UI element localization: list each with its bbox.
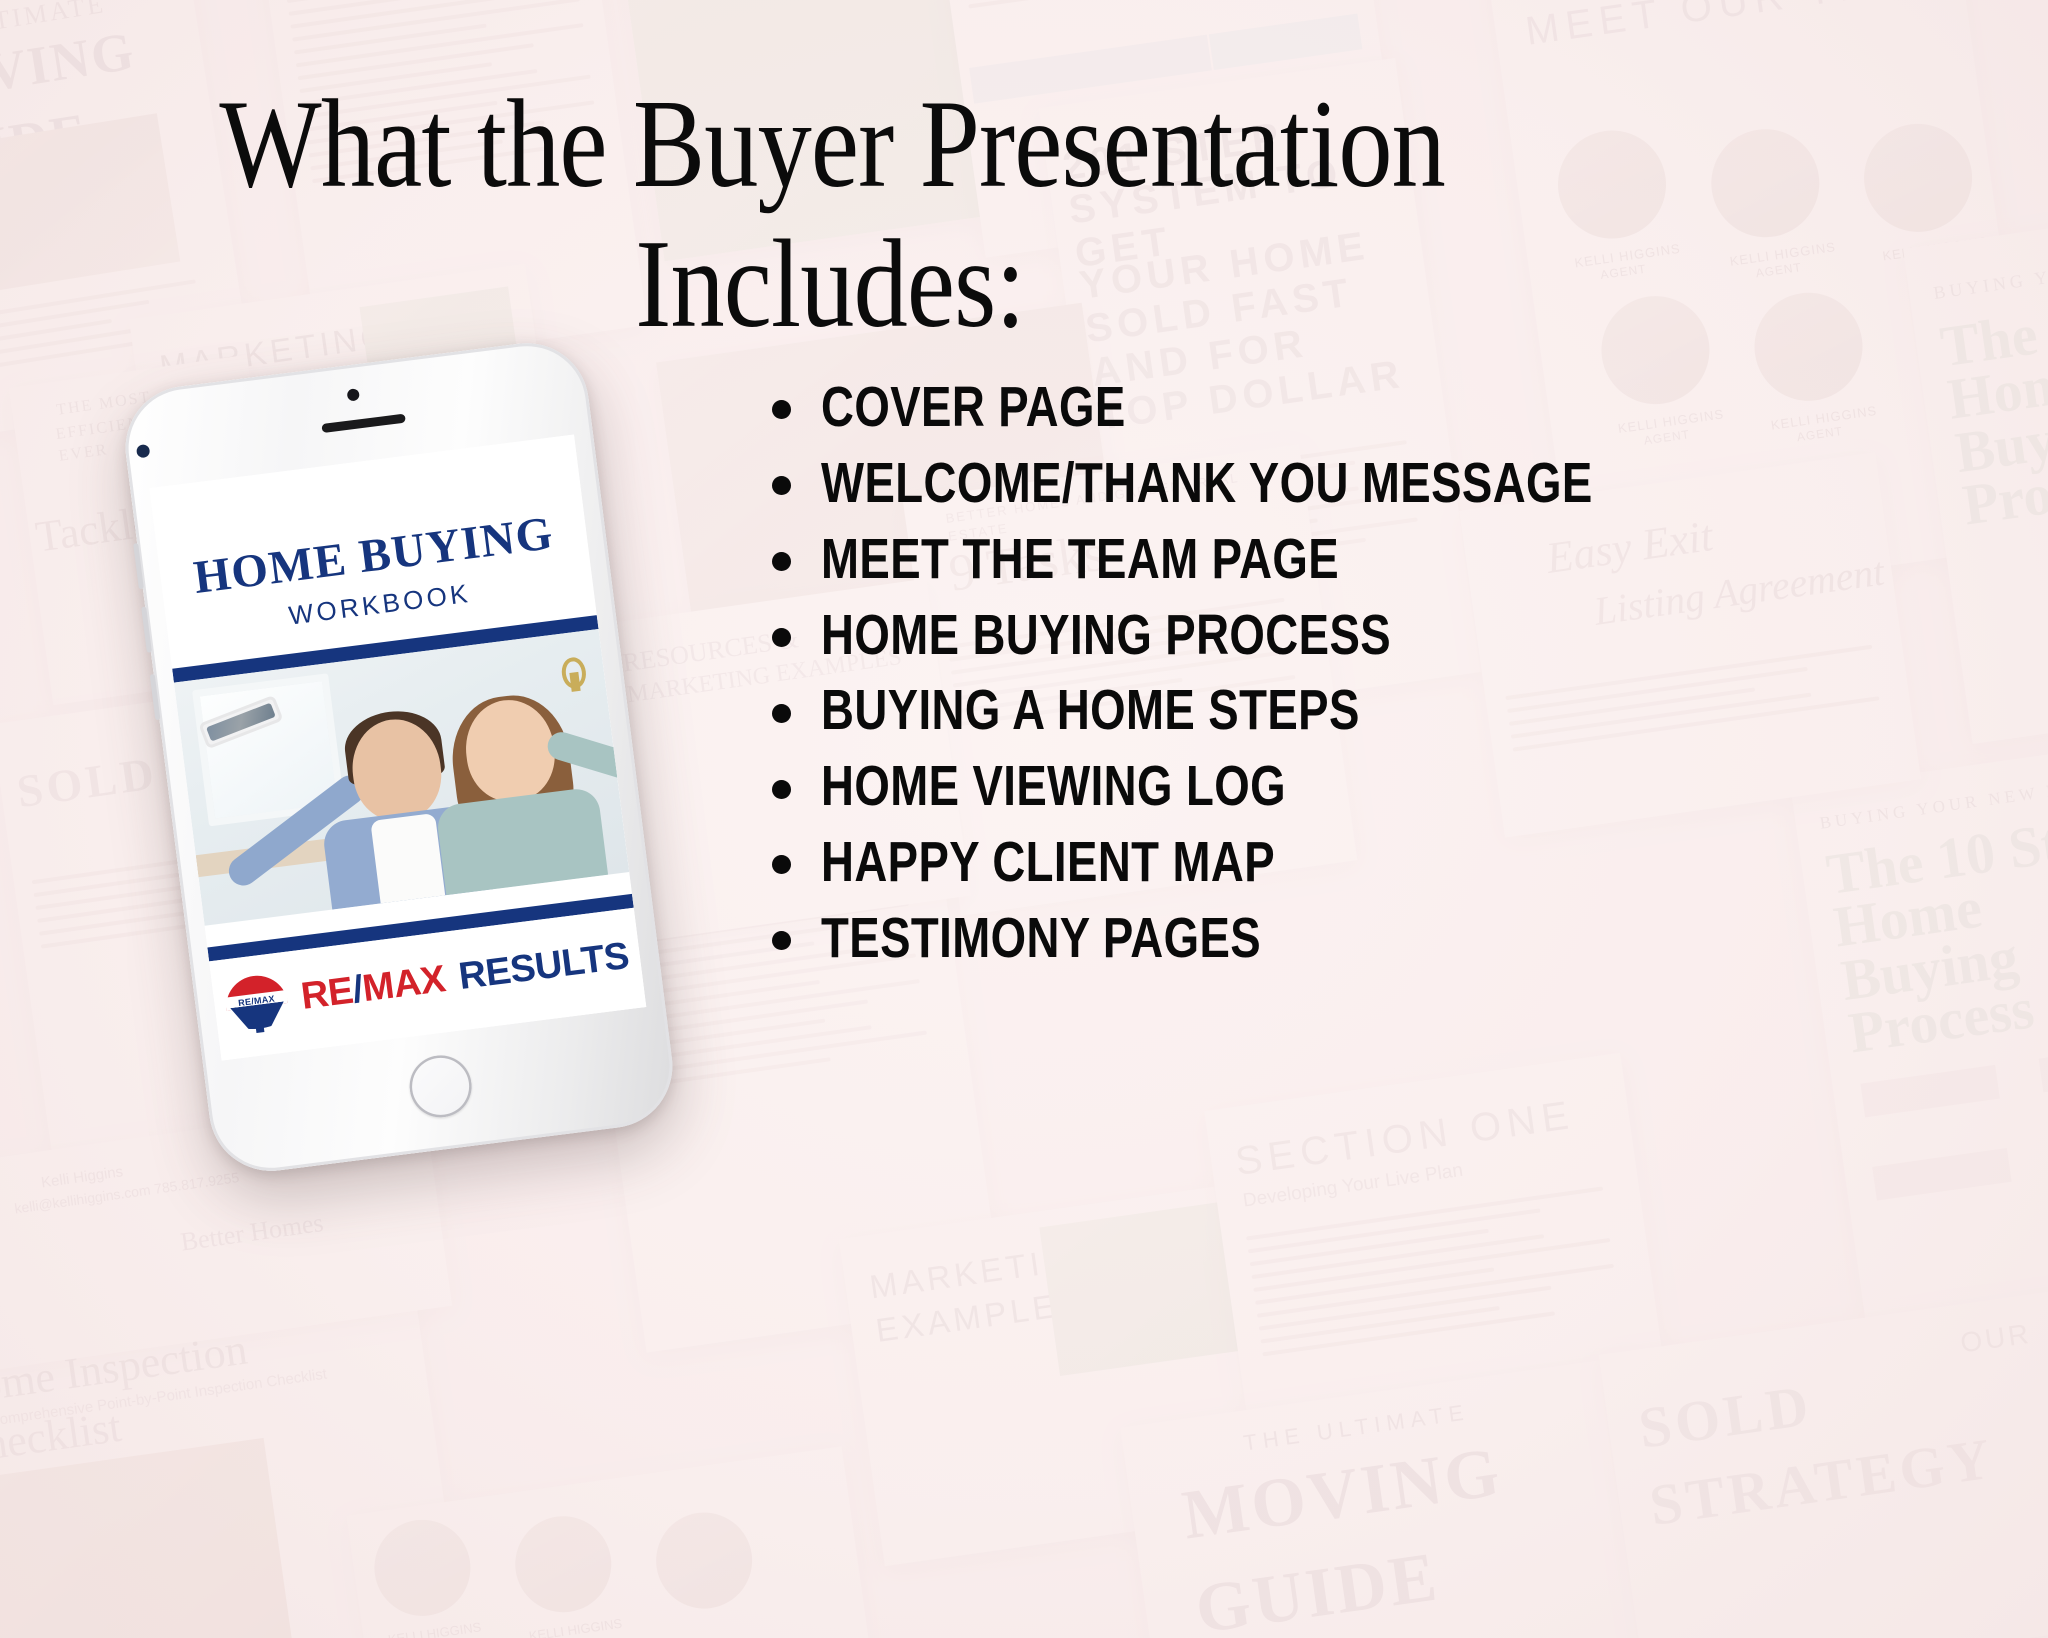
bg-sheet-sold-strategy-right: SOLD STRATEGY OUR xyxy=(1599,1288,2048,1638)
bg-agent-name: KELLI HIGGINS xyxy=(528,1615,623,1638)
list-item-label: HAPPY CLIENT MAP xyxy=(821,833,1275,893)
bg-band xyxy=(1209,13,1363,70)
bg-textlines xyxy=(1246,1186,1621,1365)
bg-sheet-heading: MEET OUR TEAM xyxy=(1522,0,1948,59)
page-title-line-1: What the Buyer Presentation xyxy=(219,78,1440,212)
list-item: WELCOME/THANK YOU MESSAGE xyxy=(772,454,2002,514)
bg-avatar xyxy=(1857,117,1979,239)
bg-avatar xyxy=(1704,122,1826,244)
bg-avatar xyxy=(1551,124,1673,246)
house-keys-icon xyxy=(555,655,593,693)
person-woman-illustration xyxy=(423,690,608,895)
list-item-label: COVER PAGE xyxy=(821,378,1126,438)
list-item: BUYING A HOME STEPS xyxy=(772,681,2002,741)
page-title: What the Buyer Presentation Includes: xyxy=(120,78,1540,351)
list-item-label: BUYING A HOME STEPS xyxy=(821,681,1360,741)
wordmark-max: MAX xyxy=(360,958,448,1010)
cover-photo-couple xyxy=(174,629,629,926)
bullet-dot-icon xyxy=(772,780,791,799)
list-item-label: HOME VIEWING LOG xyxy=(821,757,1286,817)
bg-photo xyxy=(0,1438,294,1638)
bullet-dot-icon xyxy=(772,704,791,723)
bg-sheet-heading: SOLD STRATEGY xyxy=(1634,1328,2048,1546)
list-item-label: TESTIMONY PAGES xyxy=(821,909,1261,969)
bullet-dot-icon xyxy=(772,855,791,874)
list-item: TESTIMONY PAGES xyxy=(772,909,2002,969)
shirt-shape xyxy=(370,813,445,904)
phone-home-button[interactable] xyxy=(406,1052,475,1121)
list-item: HOME VIEWING LOG xyxy=(772,757,2002,817)
bg-agent-name: KELLI HIGGINS xyxy=(387,1618,482,1638)
phone-earpiece-icon xyxy=(321,414,405,433)
bg-band xyxy=(1872,1148,2011,1201)
remax-balloon-icon: RE/MAX xyxy=(222,968,291,1037)
remax-wordmark: RE/MAXRESULTS xyxy=(299,934,632,1018)
list-item: MEET THE TEAM PAGE xyxy=(772,530,2002,590)
wordmark-results: RESULTS xyxy=(456,934,631,997)
phone-front-camera-icon xyxy=(136,444,151,459)
bg-sheet-heading: BUYING YOUR NEW HOME xyxy=(1932,238,2048,305)
torso-shape xyxy=(435,786,608,895)
bullet-dot-icon xyxy=(772,552,791,571)
list-item-label: HOME BUYING PROCESS xyxy=(821,606,1391,666)
workbook-cover-header: HOME BUYING WORKBOOK xyxy=(149,435,594,647)
bullet-dot-icon xyxy=(772,400,791,419)
bg-textlines xyxy=(963,0,1069,17)
bullet-dot-icon xyxy=(772,931,791,950)
bullet-dot-icon xyxy=(772,476,791,495)
phone-body: HOME BUYING WORKBOOK xyxy=(118,336,679,1178)
bg-band xyxy=(1860,1065,1999,1118)
phone-mockup: HOME BUYING WORKBOOK xyxy=(118,336,679,1178)
phone-screen: HOME BUYING WORKBOOK xyxy=(149,435,646,1061)
list-item: HOME BUYING PROCESS xyxy=(772,606,2002,666)
wordmark-re: RE xyxy=(299,969,356,1017)
list-item: COVER PAGE xyxy=(772,378,2002,438)
phone-proximity-sensor-icon xyxy=(347,388,360,401)
balloon-basket-shape xyxy=(256,1027,265,1033)
bg-band xyxy=(2039,1040,2048,1093)
includes-bullet-list: COVER PAGE WELCOME/THANK YOU MESSAGE MEE… xyxy=(772,378,2002,985)
bullet-dot-icon xyxy=(772,628,791,647)
bg-avatar xyxy=(650,1506,758,1614)
page-title-line-2: Includes: xyxy=(219,218,1440,352)
list-item-label: WELCOME/THANK YOU MESSAGE xyxy=(821,454,1593,514)
bg-brand-logo-text: Better Homes xyxy=(178,1205,325,1260)
bg-photo xyxy=(1039,1202,1238,1376)
list-item-label: MEET THE TEAM PAGE xyxy=(821,530,1339,590)
list-item: HAPPY CLIENT MAP xyxy=(772,833,2002,893)
workbook-cover: HOME BUYING WORKBOOK xyxy=(149,435,646,1061)
bg-avatar xyxy=(509,1510,617,1618)
bg-avatar xyxy=(368,1514,476,1622)
